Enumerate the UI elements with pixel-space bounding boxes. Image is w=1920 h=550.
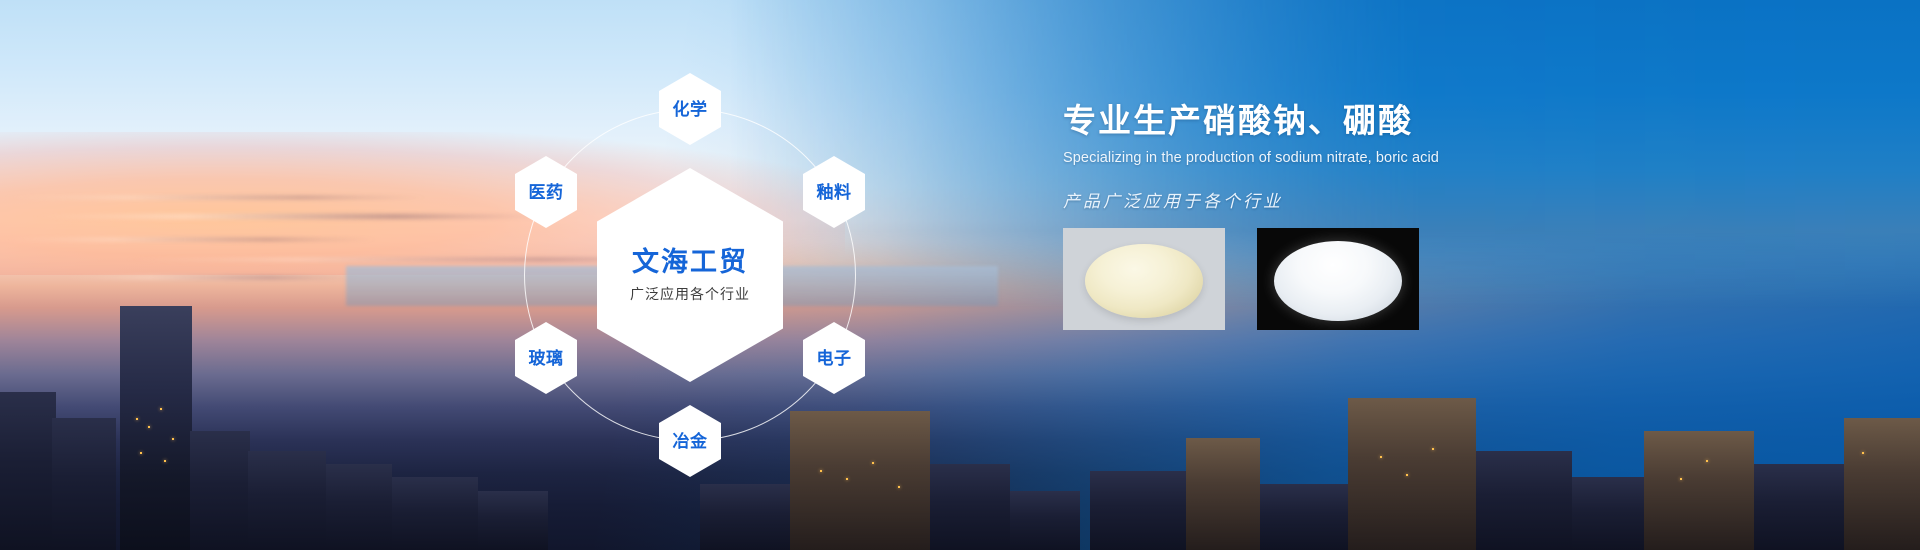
hex-node-label: 医药 xyxy=(529,184,564,201)
hex-node-label: 冶金 xyxy=(673,433,708,450)
powder-pile xyxy=(1274,241,1402,321)
product-photo-boric-acid xyxy=(1257,228,1419,330)
headline-tagline: 产品广泛应用于各个行业 xyxy=(1063,187,1763,212)
powder-pile xyxy=(1085,244,1203,318)
hex-node-label: 电子 xyxy=(817,350,852,367)
promo-banner: 文海工贸 广泛应用各个行业 化学 釉料 电子 冶金 玻璃 医药 专业生产硝酸钠、… xyxy=(0,0,1920,550)
headline-subtitle: Specializing in the production of sodium… xyxy=(1063,150,1763,166)
product-photo-sodium-nitrate xyxy=(1063,228,1225,330)
hexagon-diagram: 文海工贸 广泛应用各个行业 化学 釉料 电子 冶金 玻璃 医药 xyxy=(430,20,950,530)
product-photo-group xyxy=(1063,228,1419,330)
company-name: 文海工贸 xyxy=(632,248,748,278)
city-skyline xyxy=(0,220,1920,550)
hex-node-label: 玻璃 xyxy=(529,350,564,367)
company-tagline: 广泛应用各个行业 xyxy=(630,287,750,302)
headline-title: 专业生产硝酸钠、硼酸 xyxy=(1063,100,1763,141)
hex-node-label: 化学 xyxy=(673,101,708,118)
hex-node-label: 釉料 xyxy=(817,184,852,201)
headline-block: 专业生产硝酸钠、硼酸 Specializing in the productio… xyxy=(1063,100,1763,212)
